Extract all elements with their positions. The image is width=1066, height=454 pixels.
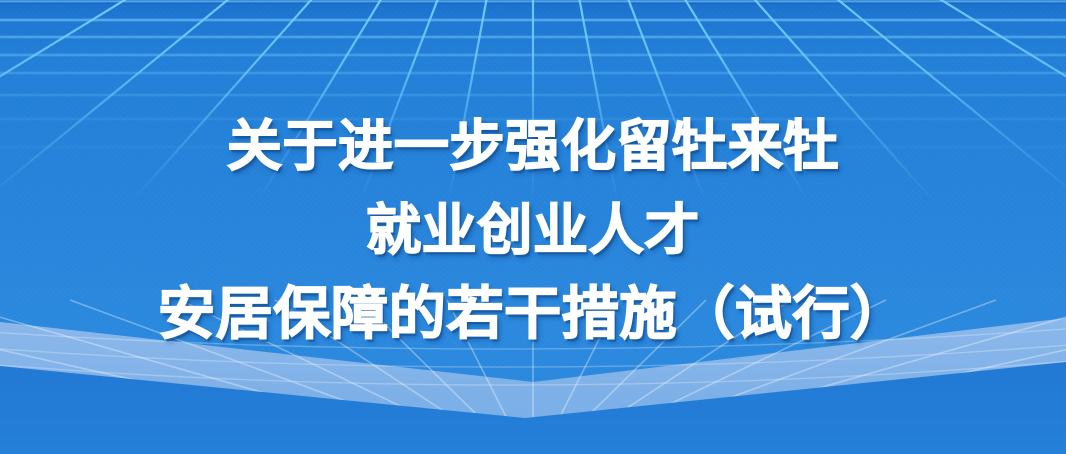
title-line-1: 关于进一步强化留牡来牡 [0,104,1066,188]
title-line-2: 就业创业人才 [0,188,1066,272]
policy-title-banner: 关于进一步强化留牡来牡 就业创业人才 安居保障的若干措施（试行） [0,0,1066,454]
title-line-3: 安居保障的若干措施（试行） [0,272,1066,356]
banner-headline: 关于进一步强化留牡来牡 就业创业人才 安居保障的若干措施（试行） [0,104,1066,356]
